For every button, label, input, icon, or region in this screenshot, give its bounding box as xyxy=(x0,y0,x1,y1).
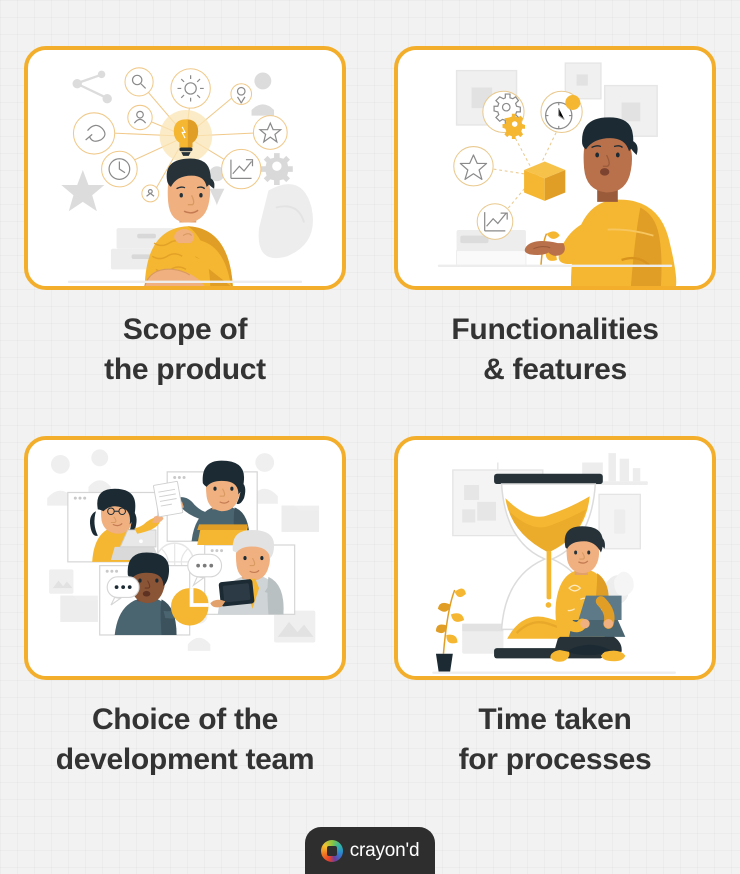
card-caption-time-taken-for-processes: Time taken for processes xyxy=(459,700,652,780)
card-cell-scope-of-the-product: Scope of the product xyxy=(0,0,370,390)
illustration-card-choice-of-the-development-team[interactable] xyxy=(24,436,346,680)
illustration-man-holding-cube xyxy=(398,50,712,286)
card-cell-functionalities-and-features: Functionalities & features xyxy=(370,0,740,390)
card-caption-scope-of-the-product: Scope of the product xyxy=(104,310,266,390)
illustration-card-time-taken-for-processes[interactable] xyxy=(394,436,716,680)
illustration-video-call-team xyxy=(28,440,342,676)
illustration-card-scope-of-the-product[interactable] xyxy=(24,46,346,290)
card-caption-functionalities-and-features: Functionalities & features xyxy=(451,310,658,390)
card-cell-time-taken-for-processes: Time taken for processes xyxy=(370,390,740,780)
card-cell-choice-of-the-development-team: Choice of the development team xyxy=(0,390,370,780)
illustration-man-thinking-with-lightbulb xyxy=(28,50,342,286)
brand-logo-tab[interactable]: crayon'd xyxy=(305,827,435,874)
crayond-circle-logo-icon xyxy=(321,840,343,862)
cards-grid: Scope of the product xyxy=(0,0,740,810)
brand-name: crayon'd xyxy=(350,840,420,862)
card-caption-choice-of-the-development-team: Choice of the development team xyxy=(56,700,315,780)
illustration-hourglass-man-laptop xyxy=(398,440,712,676)
illustration-card-functionalities-and-features[interactable] xyxy=(394,46,716,290)
